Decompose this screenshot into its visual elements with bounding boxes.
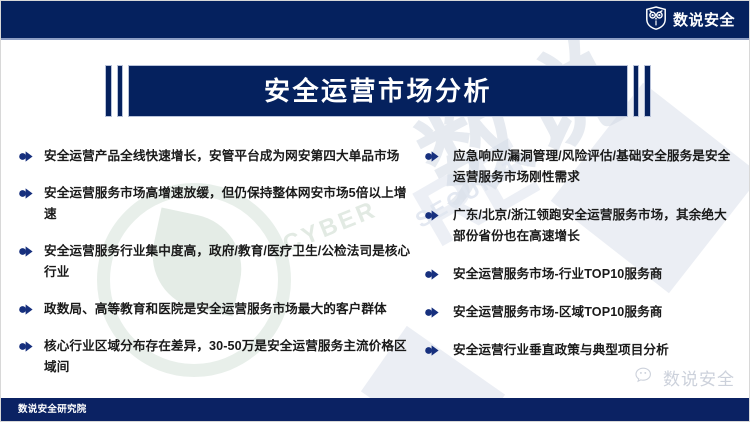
footer-wechat-brand: 数说安全 [635, 367, 735, 391]
wechat-icon [635, 367, 657, 391]
list-item: 安全运营产品全线快速增长，安管平台成为网安第四大单品市场 [19, 146, 419, 167]
arrow-bullet-icon [19, 241, 37, 262]
arrow-bullet-icon [19, 146, 37, 167]
footer-wechat-name: 数说安全 [663, 371, 735, 388]
owl-shield-icon [645, 6, 667, 35]
list-item-label: 安全运营服务市场高增速放缓，但仍保持整体网安市场5倍以上增速 [44, 183, 419, 225]
footer-label: 数说安全研究院 [18, 405, 87, 415]
list-item: 应急响应/漏洞管理/风险评估/基础安全服务是安全运营服务市场刚性需求 [425, 146, 737, 188]
list-item-label: 应急响应/漏洞管理/风险评估/基础安全服务是安全运营服务市场刚性需求 [453, 146, 737, 188]
slide-root: RE 数说 CYBER SECURITY 数说安全 安全运营市场分析 [0, 0, 750, 422]
list-item-label: 安全运营服务行业集中度高，政府/教育/医疗卫生/公检法司是核心行业 [44, 241, 419, 283]
list-item: 安全运营服务市场-行业TOP10服务商 [425, 264, 737, 285]
title-plate: 安全运营市场分析 [128, 65, 628, 117]
header-bar [1, 1, 750, 38]
arrow-bullet-icon [19, 299, 37, 320]
arrow-bullet-icon [425, 264, 443, 285]
page-title: 安全运营市场分析 [264, 78, 492, 104]
list-item: 安全运营服务市场-区域TOP10服务商 [425, 302, 737, 323]
arrow-bullet-icon [19, 183, 37, 204]
list-item-label: 安全运营服务市场-区域TOP10服务商 [453, 302, 662, 323]
list-item-label: 核心行业区域分布存在差异，30-50万是安全运营服务主流价格区域间 [44, 336, 419, 378]
arrow-bullet-icon [425, 205, 443, 226]
header-underline [1, 38, 750, 40]
list-item: 政数局、高等教育和医院是安全运营服务市场最大的客户群体 [19, 299, 419, 320]
brand-logo: 数说安全 [645, 8, 735, 32]
title-decor-bar-left-2 [117, 65, 123, 117]
arrow-bullet-icon [425, 302, 443, 323]
list-item: 核心行业区域分布存在差异，30-50万是安全运营服务主流价格区域间 [19, 336, 419, 378]
list-item-label: 安全运营服务市场-行业TOP10服务商 [453, 264, 662, 285]
list-item-label: 安全运营行业垂直政策与典型项目分析 [453, 340, 669, 361]
list-item: 广东/北京/浙江领跑安全运营服务市场，其余绝大部份省份也在高速增长 [425, 205, 737, 247]
bullet-list-left: 安全运营产品全线快速增长，安管平台成为网安第四大单品市场 安全运营服务市场高增速… [19, 146, 419, 378]
brand-name: 数说安全 [673, 13, 735, 28]
arrow-bullet-icon [19, 336, 37, 357]
list-item: 安全运营行业垂直政策与典型项目分析 [425, 340, 737, 361]
arrow-bullet-icon [425, 340, 443, 361]
list-item-label: 广东/北京/浙江领跑安全运营服务市场，其余绝大部份省份也在高速增长 [453, 205, 737, 247]
title-decor-bar-right-1 [633, 65, 639, 117]
bullet-list-right: 应急响应/漏洞管理/风险评估/基础安全服务是安全运营服务市场刚性需求 广东/北京… [425, 146, 737, 378]
list-item: 安全运营服务市场高增速放缓，但仍保持整体网安市场5倍以上增速 [19, 183, 419, 225]
footer-bar: 数说安全研究院 [1, 398, 750, 421]
title-decor-bar-right-2 [644, 65, 651, 117]
list-item-label: 安全运营产品全线快速增长，安管平台成为网安第四大单品市场 [44, 146, 399, 167]
list-item: 安全运营服务行业集中度高，政府/教育/医疗卫生/公检法司是核心行业 [19, 241, 419, 283]
list-item-label: 政数局、高等教育和医院是安全运营服务市场最大的客户群体 [44, 299, 387, 320]
arrow-bullet-icon [425, 146, 443, 167]
slide-title-block: 安全运营市场分析 [105, 65, 651, 117]
title-decor-bar-left-1 [105, 65, 112, 117]
